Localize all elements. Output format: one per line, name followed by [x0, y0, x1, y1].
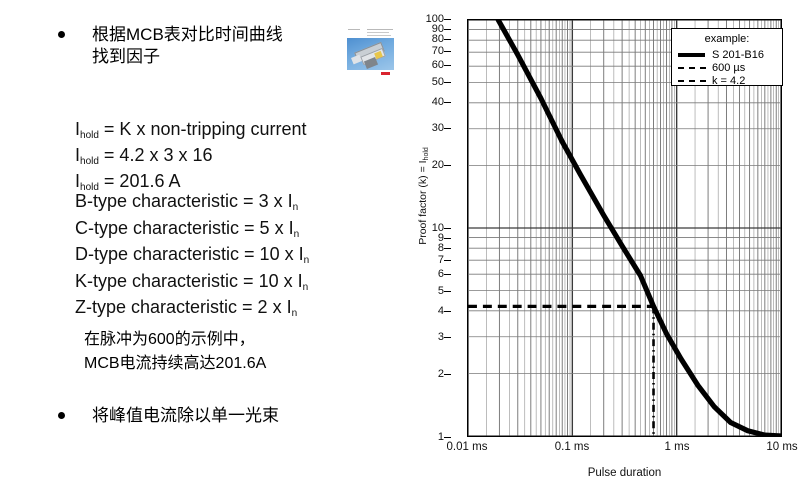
legend-title: example: — [677, 33, 777, 45]
y-tick-mark — [444, 337, 451, 338]
y-tick-mark — [444, 65, 451, 66]
legend-entry-k: k = 4.2 — [677, 74, 777, 87]
slide-root: 根据MCB表对比时间曲线 找到因子 Ihold = K x non-trippi… — [0, 0, 801, 494]
bullet-2-line-1: 将峰值电流除以单一光束 — [92, 405, 279, 427]
y-axis-tick-labels: 100908070605040302010987654321 — [400, 0, 466, 460]
legend-entry-curve: S 201-B16 — [677, 48, 777, 61]
y-axis-title: Proof factor (k) = Ihold — [417, 126, 429, 266]
bullet-item-2: 将峰值电流除以单一光束 — [58, 405, 279, 427]
legend-label-k: k = 4.2 — [712, 75, 745, 87]
thumbnail-red-bar — [381, 72, 390, 75]
chinese-note-block: 在脉冲为600的示例中， MCB电流持续高达201.6A — [84, 328, 266, 376]
y-tick-mark — [444, 29, 451, 30]
y-tick-mark — [444, 102, 451, 103]
y-tick-mark — [444, 51, 451, 52]
bullet-1-line-2: 找到因子 — [92, 46, 283, 68]
thumbnail-header-lines — [347, 28, 394, 37]
y-tick-mark — [444, 165, 451, 166]
legend-label-curve: S 201-B16 — [712, 49, 764, 61]
left-content-column: 根据MCB表对比时间曲线 找到因子 Ihold = K x non-trippi… — [0, 0, 420, 494]
bullet-dot-icon — [58, 412, 65, 419]
y-tick-mark — [444, 39, 451, 40]
legend-dashdot-swatch-icon — [677, 62, 707, 73]
characteristic-row: C-type characteristic = 5 x In — [75, 217, 309, 244]
x-tick-label: 1 ms — [665, 441, 690, 453]
formula-block: Ihold = K x non-tripping current Ihold =… — [75, 118, 307, 196]
y-tick-mark — [444, 19, 451, 20]
bullet-2-text: 将峰值电流除以单一光束 — [92, 405, 279, 427]
y-tick-label: 50 — [432, 76, 444, 88]
characteristic-row: D-type characteristic = 10 x In — [75, 243, 309, 270]
thumbnail-photo — [347, 38, 394, 70]
y-tick-mark — [444, 274, 451, 275]
y-tick-label: 70 — [432, 45, 444, 57]
chinese-note-line-1: 在脉冲为600的示例中， — [84, 328, 266, 352]
characteristic-row: B-type characteristic = 3 x In — [75, 190, 309, 217]
bullet-1-line-1: 根据MCB表对比时间曲线 — [92, 24, 283, 46]
bullet-dot-icon — [58, 31, 65, 38]
y-tick-label: 30 — [432, 122, 444, 134]
y-tick-mark — [444, 128, 451, 129]
characteristic-row: K-type characteristic = 10 x In — [75, 270, 309, 297]
x-tick-label: 0.1 ms — [555, 441, 590, 453]
legend-label-pulse: 600 µs — [712, 62, 745, 74]
characteristics-block: B-type characteristic = 3 x In C-type ch… — [75, 190, 309, 323]
x-axis-title: Pulse duration — [467, 467, 782, 479]
y-tick-label: 60 — [432, 59, 444, 71]
y-tick-mark — [444, 374, 451, 375]
x-tick-label: 0.01 ms — [447, 441, 488, 453]
legend-dashed-swatch-icon — [677, 75, 707, 86]
x-axis-tick-labels: 0.01 ms0.1 ms1 ms10 ms — [400, 441, 801, 461]
bullet-1-text: 根据MCB表对比时间曲线 找到因子 — [92, 24, 283, 68]
y-tick-label: 40 — [432, 96, 444, 108]
y-tick-mark — [444, 248, 451, 249]
legend-solid-swatch-icon — [677, 49, 707, 60]
y-tick-mark — [444, 437, 451, 438]
chart-legend: example: S 201-B16 600 µs k = 4.2 — [671, 28, 783, 86]
y-tick-label: 80 — [432, 33, 444, 45]
y-tick-mark — [444, 291, 451, 292]
characteristic-row: Z-type characteristic = 2 x In — [75, 296, 309, 323]
mcb-product-thumbnail — [345, 27, 396, 77]
legend-entry-pulse: 600 µs — [677, 61, 777, 74]
proof-factor-chart: 100908070605040302010987654321 example: … — [400, 0, 801, 494]
formula-line-1: Ihold = K x non-tripping current — [75, 118, 307, 144]
y-tick-mark — [444, 260, 451, 261]
y-tick-mark — [444, 228, 451, 229]
y-tick-mark — [444, 238, 451, 239]
x-tick-label: 10 ms — [766, 441, 797, 453]
y-tick-mark — [444, 82, 451, 83]
y-tick-mark — [444, 311, 451, 312]
bullet-item-1: 根据MCB表对比时间曲线 找到因子 — [58, 24, 283, 68]
formula-line-2: Ihold = 4.2 x 3 x 16 — [75, 144, 307, 170]
chinese-note-line-2: MCB电流持续高达201.6A — [84, 352, 266, 376]
y-tick-label: 20 — [432, 159, 444, 171]
